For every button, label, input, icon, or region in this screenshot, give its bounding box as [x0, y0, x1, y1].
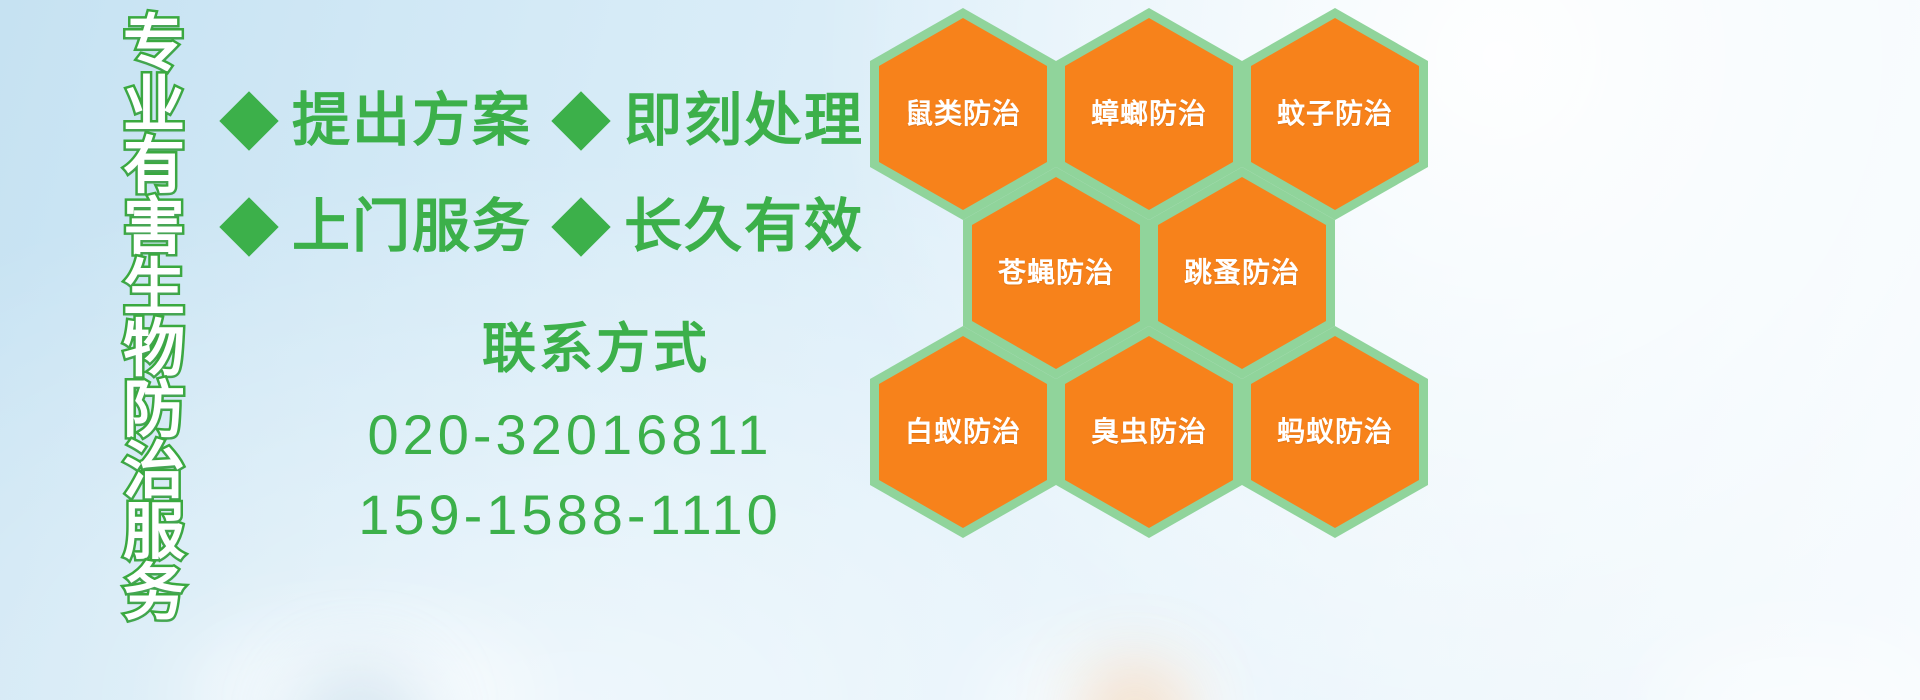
diamond-icon — [551, 91, 610, 150]
hex-label: 臭虫防治 — [1091, 417, 1207, 447]
hex-inner: 苍蝇防治 — [972, 177, 1140, 369]
service-hex-grid: 鼠类防治 蟑螂防治 蚊子防治 苍蝇防治 跳蚤防治 白蚁防 — [860, 0, 1480, 700]
hex-inner: 蚊子防治 — [1251, 18, 1419, 210]
hex-label: 跳蚤防治 — [1184, 258, 1300, 288]
feature-label: 提出方案 — [292, 92, 532, 150]
vertical-slogan-char: 生 — [123, 258, 185, 319]
vertical-slogan-char: 防 — [123, 380, 185, 441]
vertical-slogan-char: 务 — [123, 563, 185, 624]
feature-item: 上门服务 — [228, 198, 532, 256]
feature-item: 提出方案 — [228, 92, 532, 150]
vertical-slogan-char: 害 — [123, 197, 185, 258]
hex-inner: 臭虫防治 — [1065, 336, 1233, 528]
diamond-icon — [551, 197, 610, 256]
diamond-icon — [219, 197, 278, 256]
feature-row-2: 上门服务 长久有效 — [228, 198, 864, 256]
background-haze — [1650, 630, 1920, 700]
feature-label: 长久有效 — [624, 198, 864, 256]
hex-label: 蚂蚁防治 — [1277, 417, 1393, 447]
feature-item: 即刻处理 — [560, 92, 864, 150]
pest-control-banner: 专 业 有 害 生 物 防 治 服 务 提出方案 即刻处理 上门服务 — [0, 0, 1920, 700]
hex-inner: 蟑螂防治 — [1065, 18, 1233, 210]
hex-inner: 白蚁防治 — [879, 336, 1047, 528]
hex-inner: 鼠类防治 — [879, 18, 1047, 210]
diamond-icon — [219, 91, 278, 150]
vertical-slogan-char: 有 — [123, 136, 185, 197]
hex-label: 鼠类防治 — [905, 99, 1021, 129]
vertical-slogan-char: 专 — [123, 14, 185, 75]
feature-label: 即刻处理 — [624, 92, 864, 150]
vertical-slogan: 专 业 有 害 生 物 防 治 服 务 — [103, 14, 205, 624]
vertical-slogan-char: 业 — [123, 75, 185, 136]
contact-title: 联系方式 — [228, 320, 868, 378]
hex-inner: 跳蚤防治 — [1158, 177, 1326, 369]
feature-row-1: 提出方案 即刻处理 — [228, 92, 864, 150]
center-content: 提出方案 即刻处理 上门服务 长久有效 联系方式 020-32016811 15… — [228, 0, 868, 700]
hex-label: 蟑螂防治 — [1091, 99, 1207, 129]
phone-number-mobile[interactable]: 159-1588-1110 — [228, 485, 868, 545]
vertical-slogan-char: 物 — [123, 319, 185, 380]
hex-label: 蚊子防治 — [1277, 99, 1393, 129]
feature-label: 上门服务 — [292, 198, 532, 256]
vertical-slogan-char: 服 — [123, 502, 185, 563]
hex-inner: 蚂蚁防治 — [1251, 336, 1419, 528]
vertical-slogan-char: 治 — [123, 441, 185, 502]
phone-number-landline[interactable]: 020-32016811 — [228, 405, 868, 465]
feature-item: 长久有效 — [560, 198, 864, 256]
hex-label: 白蚁防治 — [905, 417, 1021, 447]
hex-label: 苍蝇防治 — [998, 258, 1114, 288]
